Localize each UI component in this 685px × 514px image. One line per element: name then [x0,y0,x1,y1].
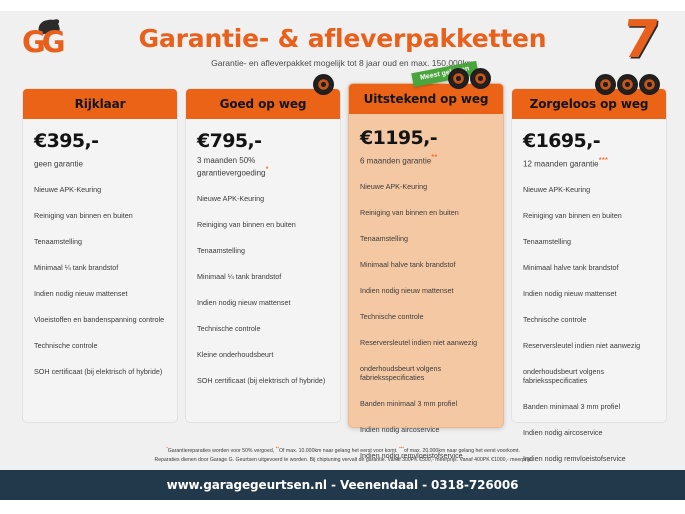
tyre-icon [313,74,334,95]
package-warranty: geen garantie [34,156,166,169]
tyre-icon [470,68,491,89]
package-feature: Minimaal halve tank brandstof [523,263,655,272]
package-feature: Indien nodig aircoservice [360,425,492,434]
package-card-goed-op-weg[interactable]: Goed op weg €795,- 3 maanden 50% garanti… [185,88,341,423]
package-feature: Vloeistoffen en bandenspanning controle [34,315,166,324]
package-feature: Reiniging van binnen en buiten [34,211,166,220]
package-feature: Reserversleutel indien niet aanwezig [360,338,492,347]
footnote-3-text: of max. 20.000km naar gelang het eerst v… [404,448,520,454]
top-white-strip [0,0,685,11]
package-feature: Minimaal halve tank brandstof [360,260,492,269]
package-card-zorgeloos-op-weg[interactable]: Zorgeloos op weg €1695,- 12 maanden gara… [511,88,667,423]
package-feature: onderhoudsbeurt volgens fabrieksspecific… [523,367,655,385]
package-warranty: 3 maanden 50% garantievergoeding* [197,156,329,178]
package-feature: Minimaal ¼ tank brandstof [197,272,329,281]
package-name: Goed op weg [220,97,307,111]
package-warranty: 12 maanden garantie*** [523,156,655,169]
warranty-text: 6 maanden garantie [360,157,431,166]
package-feature: Nieuwe APK-Keuring [197,194,329,203]
package-body: €395,- geen garantie Nieuwe APK-KeuringR… [23,119,177,390]
package-feature: Technische controle [523,315,655,324]
poster-canvas: GG 7 Garantie- & afleverpakketten Garant… [0,0,685,514]
package-feature: Indien nodig aircoservice [523,428,655,437]
package-price: €795,- [197,132,329,152]
package-feature: Tenaamstelling [34,237,166,246]
package-feature: SOH certificaat (bij elektrisch of hybri… [34,367,166,376]
tyre-icon [639,74,660,95]
package-price: €1695,- [523,132,655,152]
package-name: Zorgeloos op weg [530,97,649,111]
page-title: Garantie- & afleverpakketten [0,24,685,53]
feature-list: Nieuwe APK-KeuringReiniging van binnen e… [523,185,655,489]
package-feature: Reiniging van binnen en buiten [360,208,492,217]
package-header: Rijklaar [23,89,177,119]
footnote-line-1: *Garantiereparaties worden voor 50% verg… [166,448,520,454]
feature-list: Nieuwe APK-KeuringReiniging van binnen e… [360,182,492,486]
package-feature: SOH certificaat (bij elektrisch of hybri… [197,376,329,385]
feature-list: Nieuwe APK-KeuringReiniging van binnen e… [34,185,166,376]
package-feature: Nieuwe APK-Keuring [523,185,655,194]
tyre-icon [448,68,469,89]
feature-list: Nieuwe APK-KeuringReiniging van binnen e… [197,194,329,385]
tyre-icon [595,74,616,95]
footnote-1-text: Garantiereparaties worden voor 50% vergo… [168,448,276,454]
package-body: €795,- 3 maanden 50% garantievergoeding*… [186,119,340,399]
warranty-marker: ** [431,153,437,162]
package-feature: Technische controle [360,312,492,321]
footnote-line-2: Reparaties dienen door Garage G. Geurtse… [155,457,532,463]
warranty-marker: * [266,165,269,174]
package-feature: Indien nodig nieuw mattenset [523,289,655,298]
package-price: €1195,- [360,129,492,149]
package-feature: Tenaamstelling [197,246,329,255]
package-feature: Reiniging van binnen en buiten [197,220,329,229]
tyre-rating-icons [313,74,334,95]
package-feature: Reserversleutel indien niet aanwezig [523,341,655,350]
footer-contact-text: www.garagegeurtsen.nl - Veenendaal - 031… [167,478,519,492]
package-feature: Indien nodig nieuw mattenset [197,298,329,307]
package-feature: Nieuwe APK-Keuring [34,185,166,194]
warranty-text: 12 maanden garantie [523,160,599,169]
package-price: €395,- [34,132,166,152]
package-feature: Tenaamstelling [523,237,655,246]
package-warranty: 6 maanden garantie** [360,153,492,166]
package-feature: Reiniging van binnen en buiten [523,211,655,220]
footnote: *Garantiereparaties worden voor 50% verg… [78,444,608,465]
footer-bar: www.garagegeurtsen.nl - Veenendaal - 031… [0,470,685,500]
package-card-uitstekend-op-weg[interactable]: Meest gekozen Uitstekend op weg €1195,- … [348,83,504,428]
tyre-icon [617,74,638,95]
footnote-2-text: Of max. 10.000km naar gelang het eerst v… [279,448,399,454]
package-card-rijklaar[interactable]: Rijklaar €395,- geen garantie Nieuwe APK… [22,88,178,423]
package-feature: Indien nodig nieuw mattenset [360,286,492,295]
warranty-marker: *** [599,156,608,165]
warranty-text: geen garantie [34,160,83,169]
package-feature: onderhoudsbeurt volgens fabrieksspecific… [360,364,492,382]
package-name: Uitstekend op weg [364,92,489,106]
tyre-rating-icons [448,68,491,89]
package-body: €1195,- 6 maanden garantie** Nieuwe APK-… [349,114,503,500]
package-feature: Tenaamstelling [360,234,492,243]
package-feature: Nieuwe APK-Keuring [360,182,492,191]
package-feature: Technische controle [197,324,329,333]
package-feature: Kleine onderhoudsbeurt [197,350,329,359]
page-subtitle: Garantie- en afleverpakket mogelijk tot … [0,58,685,68]
package-feature: Minimaal ¼ tank brandstof [34,263,166,272]
warranty-text: 3 maanden 50% garantievergoeding [197,156,266,178]
package-feature: Technische controle [34,341,166,350]
bottom-white-strip [0,500,685,514]
tyre-rating-icons [595,74,660,95]
package-feature: Indien nodig nieuw mattenset [34,289,166,298]
package-feature: Banden minimaal 3 mm profiel [360,399,492,408]
package-name: Rijklaar [75,97,126,111]
package-feature: Banden minimaal 3 mm profiel [523,402,655,411]
